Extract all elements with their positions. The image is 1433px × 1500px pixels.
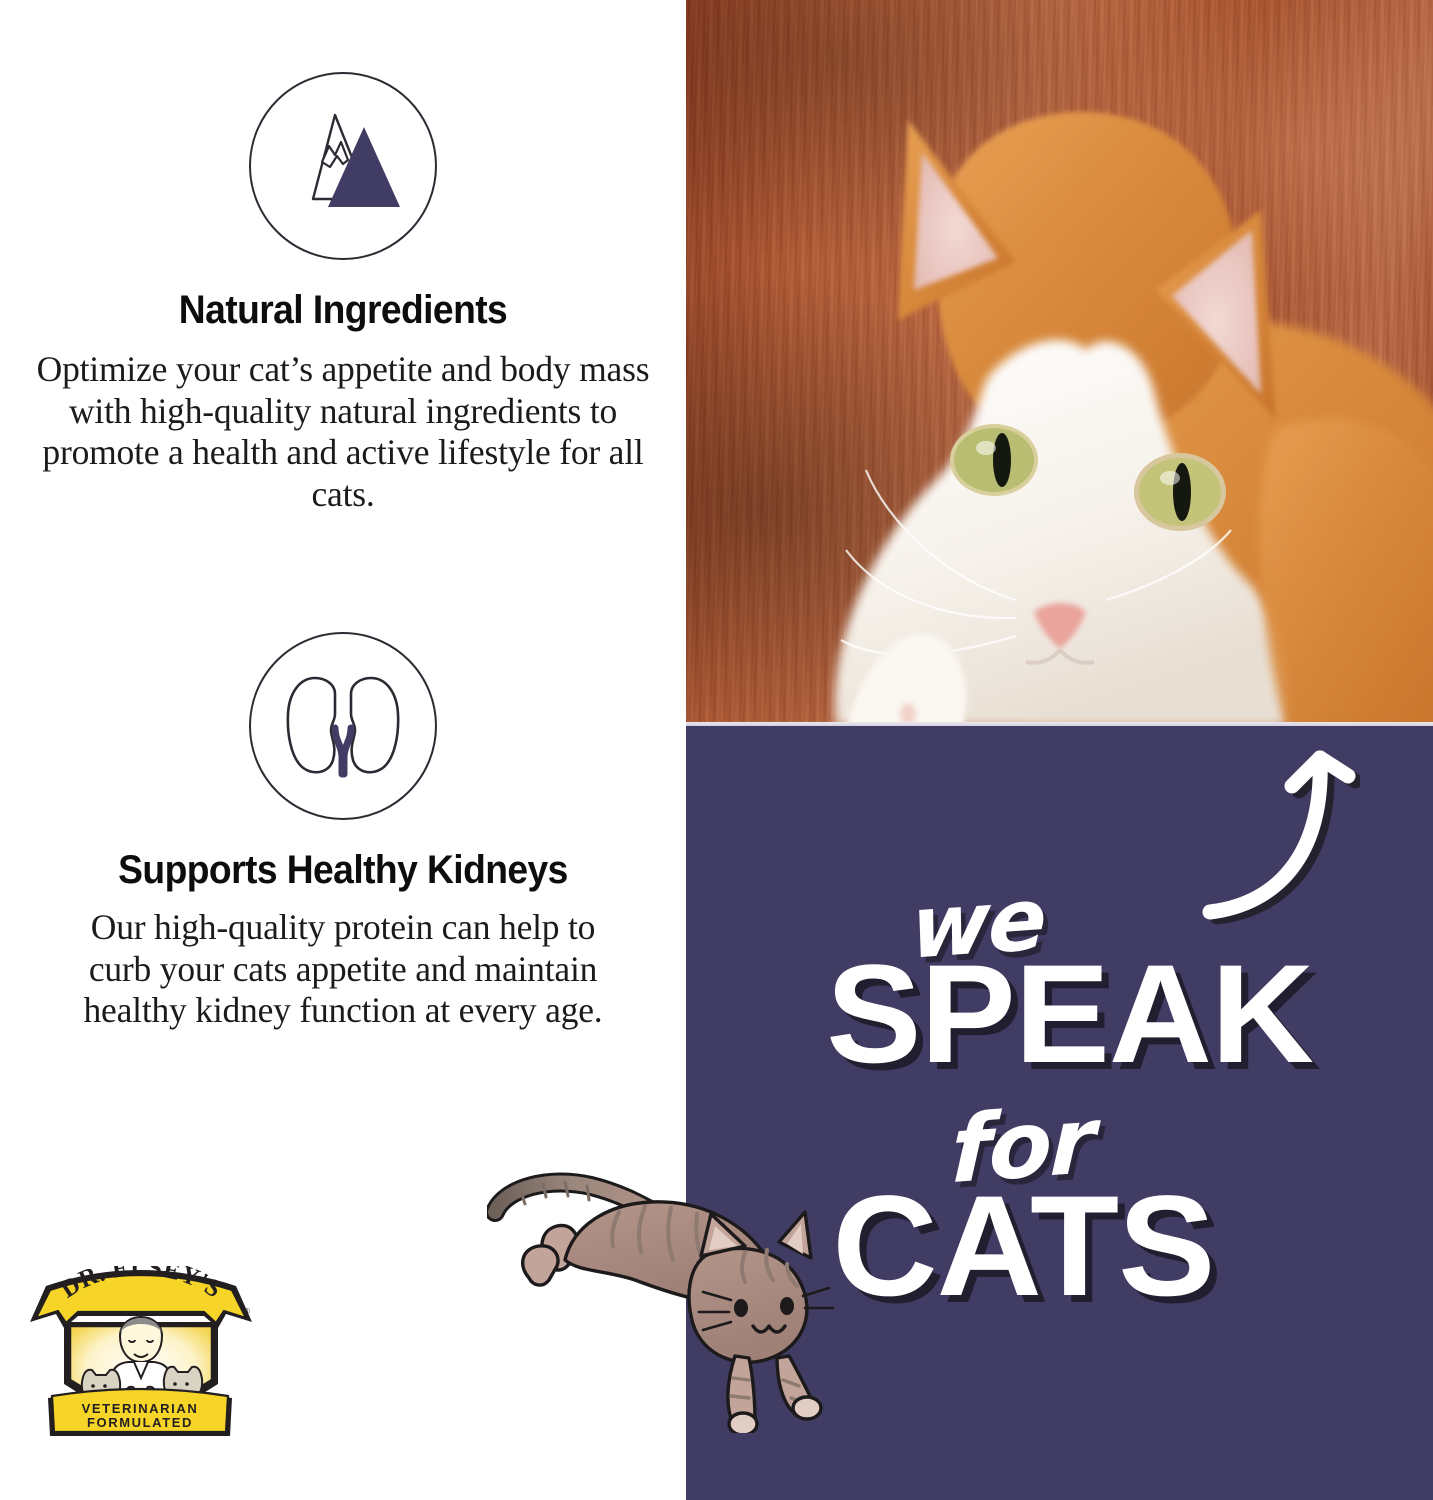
feature-body: Our high-quality protein can help to cur… [63,907,623,1032]
headline-speak: SPEAK [826,947,1313,1080]
product-feature-infographic: Natural Ingredients Optimize your cat’s … [0,0,1433,1500]
feature-title: Natural Ingredients [24,288,662,333]
headline-cats: CATS [832,1179,1214,1315]
curved-arrow-icon [1180,660,1360,930]
mountain-icon [249,72,437,260]
feature-supports-healthy-kidneys: Supports Healthy Kidneys Our high-qualit… [0,632,686,1032]
dr-elseys-logo: DR. ELSEY'S ® VETERINARIAN FORMULATED [16,1266,266,1444]
logo-tagline-line1: VETERINARIAN [82,1401,199,1416]
leaping-cat-illustration [487,1168,857,1433]
cat-photo [686,0,1433,726]
feature-body: Optimize your cat’s appetite and body ma… [23,349,663,515]
feature-natural-ingredients: Natural Ingredients Optimize your cat’s … [0,72,686,515]
feature-title: Supports Healthy Kidneys [24,848,662,893]
kidneys-icon [249,632,437,820]
registered-mark: ® [244,1307,250,1316]
logo-tagline-line2: FORMULATED [87,1415,193,1430]
